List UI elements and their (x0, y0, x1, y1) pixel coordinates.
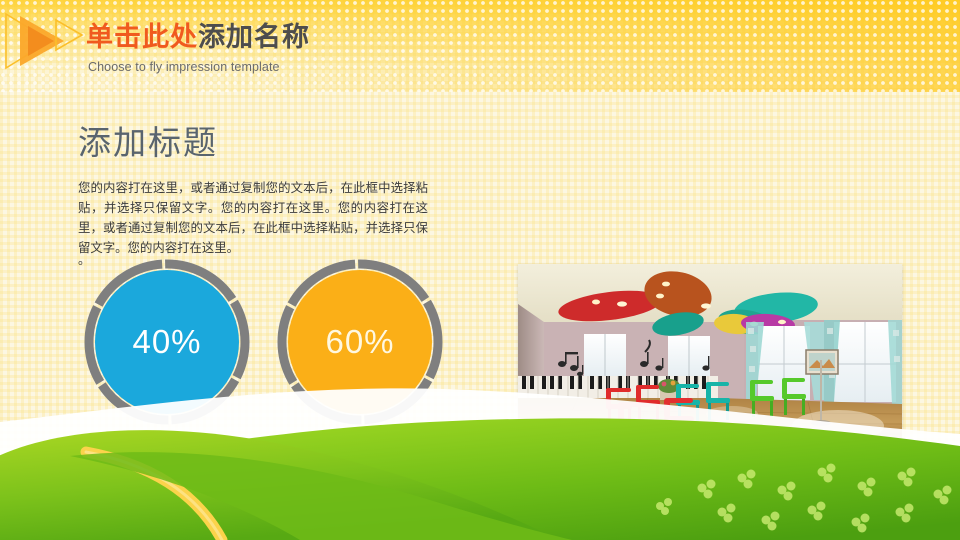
body-paragraph: 您的内容打在这里，或者通过复制您的文本后，在此框中选择粘贴，并选择只保留文字。您… (78, 178, 428, 258)
page-title: 添加标题 (78, 126, 218, 159)
footer-landscape-graphic (0, 360, 960, 540)
header-title-orange: 单击此处 (86, 22, 198, 52)
header-title: 单击此处添加名称 (86, 24, 310, 51)
header-title-dark: 添加名称 (198, 22, 310, 52)
slide-canvas: 单击此处添加名称 Choose to fly impression templa… (0, 0, 960, 540)
triangle-arrow-logo-icon (2, 6, 88, 72)
header-subtitle: Choose to fly impression template (88, 60, 280, 74)
